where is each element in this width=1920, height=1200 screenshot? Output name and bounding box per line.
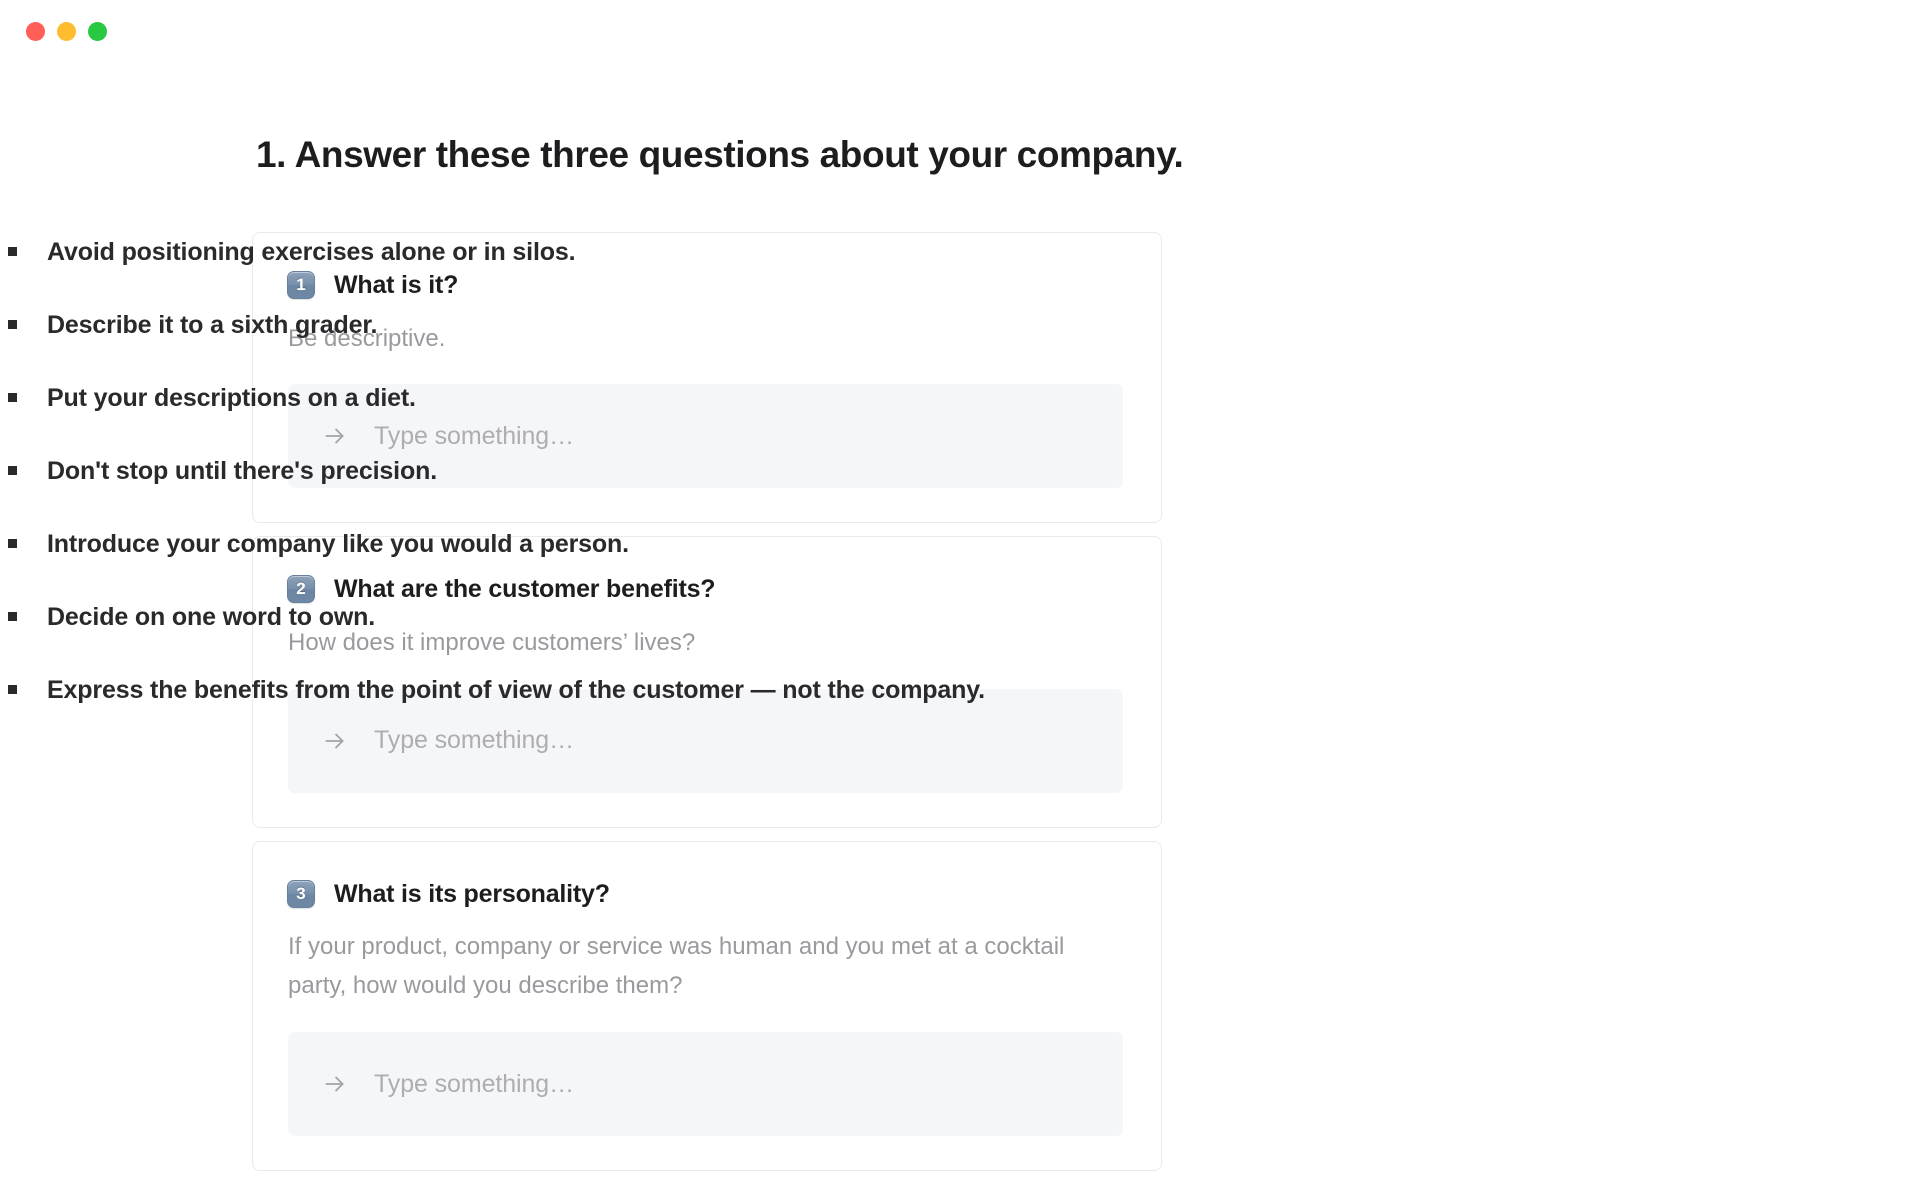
arrow-right-icon (322, 728, 348, 754)
content-columns: 1 What is it? Be descriptive. Type somet… (0, 232, 1920, 710)
page-body: 1. Answer these three questions about yo… (0, 62, 1920, 1200)
tip-list-item: Put your descriptions on a diet. (0, 378, 1920, 418)
tip-text: Introduce your company like you would a … (47, 530, 629, 558)
tip-list-item: Decide on one word to own. (0, 597, 1920, 637)
tip-text: Put your descriptions on a diet. (47, 384, 416, 412)
question-header: 1 What is it? (287, 267, 1123, 302)
arrow-right-icon (322, 1071, 348, 1097)
tip-text: Avoid positioning exercises alone or in … (47, 238, 575, 266)
square-bullet-icon (8, 539, 17, 548)
question-answer-input[interactable]: Type something… (288, 1032, 1123, 1136)
answer-placeholder-text: Type something… (374, 422, 574, 451)
answer-placeholder-text: Type something… (374, 726, 574, 755)
tip-list-item: Avoid positioning exercises alone or in … (0, 232, 1920, 272)
window-titlebar (0, 0, 1920, 62)
maximize-window-button[interactable] (88, 22, 107, 41)
answer-placeholder-text: Type something… (374, 1070, 574, 1099)
page-title: 1. Answer these three questions about yo… (256, 134, 1183, 176)
square-bullet-icon (8, 320, 17, 329)
tip-list-item: Introduce your company like you would a … (0, 524, 1920, 564)
question-number-badge: 1 (287, 271, 315, 299)
tip-text: Describe it to a sixth grader. (47, 311, 377, 339)
tip-text: Express the benefits from the point of v… (47, 676, 985, 704)
square-bullet-icon (8, 247, 17, 256)
question-title: What is its personality? (334, 876, 610, 911)
tip-text: Don't stop until there's precision. (47, 457, 437, 485)
question-card-3[interactable]: 3 What is its personality? If your produ… (252, 841, 1162, 1171)
question-number-badge: 3 (287, 880, 315, 908)
traffic-light-group (26, 22, 107, 41)
tip-list-item: Describe it to a sixth grader. (0, 305, 1920, 345)
question-subtitle: If your product, company or service was … (288, 928, 1078, 1006)
tip-list-item: Express the benefits from the point of v… (0, 670, 1920, 710)
square-bullet-icon (8, 612, 17, 621)
tip-text: Decide on one word to own. (47, 603, 375, 631)
close-window-button[interactable] (26, 22, 45, 41)
arrow-right-icon (322, 423, 348, 449)
tip-list-item: Don't stop until there's precision. (0, 451, 1920, 491)
question-header: 3 What is its personality? (287, 876, 1123, 911)
question-title: What is it? (334, 267, 458, 302)
square-bullet-icon (8, 466, 17, 475)
square-bullet-icon (8, 393, 17, 402)
minimize-window-button[interactable] (57, 22, 76, 41)
square-bullet-icon (8, 685, 17, 694)
